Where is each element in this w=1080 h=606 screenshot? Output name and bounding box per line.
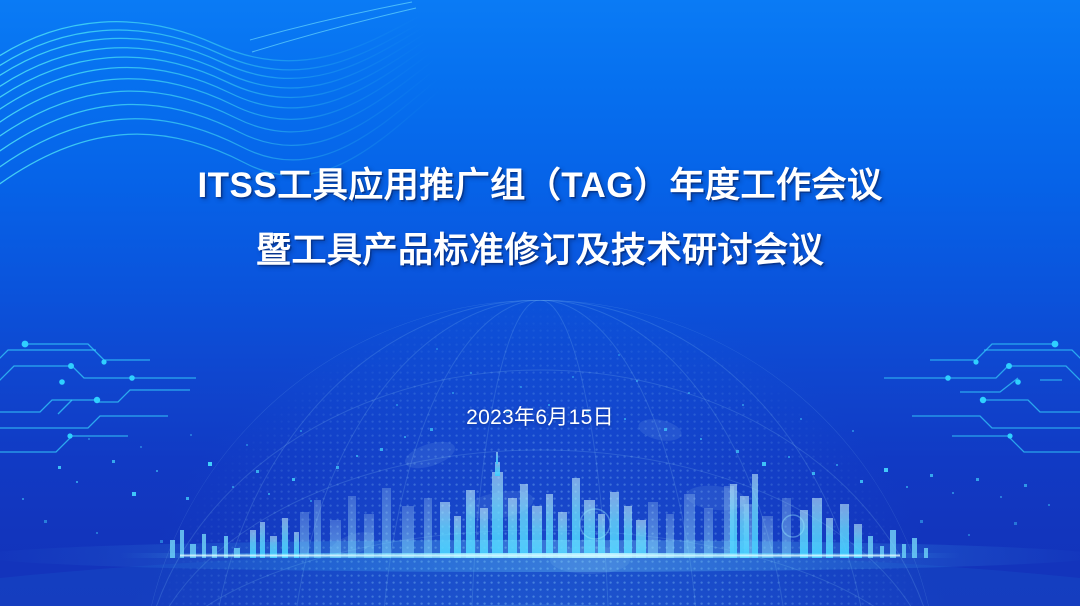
slide-content: ITSS工具应用推广组（TAG）年度工作会议 暨工具产品标准修订及技术研讨会议 … xyxy=(0,0,1080,606)
title-block: ITSS工具应用推广组（TAG）年度工作会议 暨工具产品标准修订及技术研讨会议 xyxy=(0,168,1080,268)
page-title-line-2: 暨工具产品标准修订及技术研讨会议 xyxy=(0,233,1080,268)
title-slide: ITSS工具应用推广组（TAG）年度工作会议 暨工具产品标准修订及技术研讨会议 … xyxy=(0,0,1080,606)
conference-date: 2023年6月15日 xyxy=(0,401,1080,431)
page-title-line-1: ITSS工具应用推广组（TAG）年度工作会议 xyxy=(0,168,1080,203)
